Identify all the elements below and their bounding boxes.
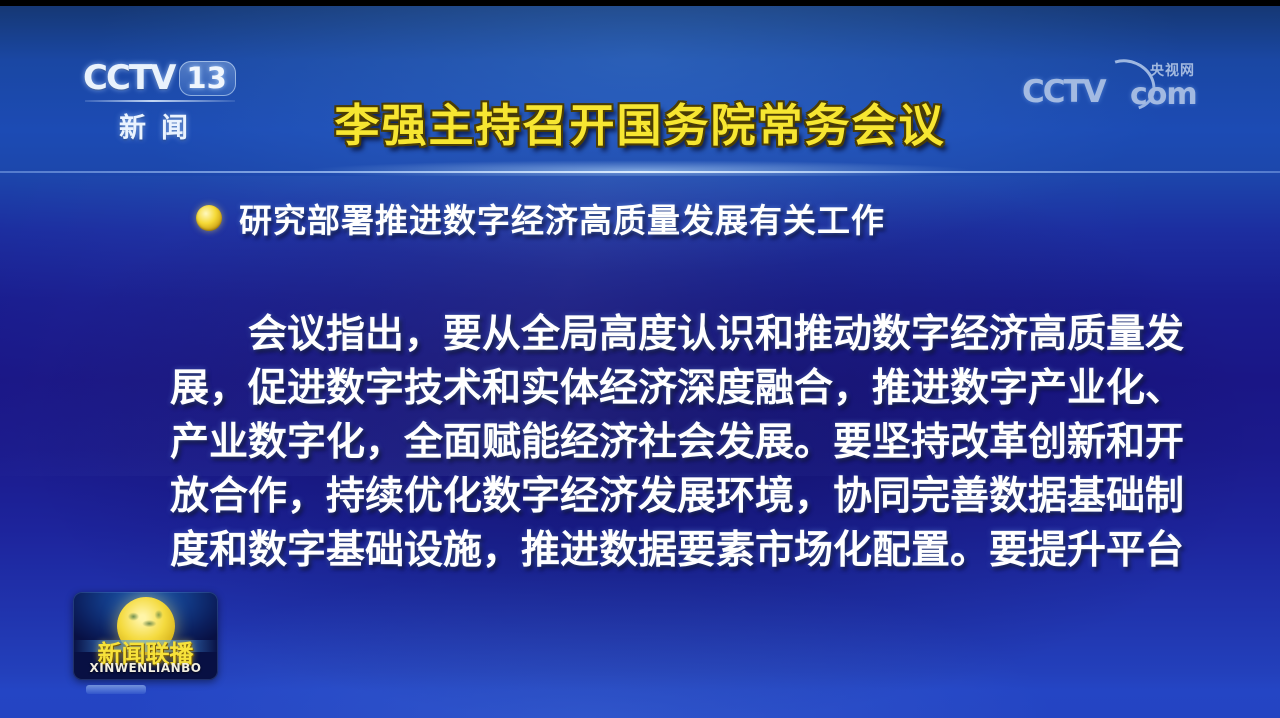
body-line: 展，促进数字技术和实体经济深度融合，推进数字产业化、: [170, 362, 1114, 416]
news-broadcast-screen: CCTV 13 新闻 CCTV 央视网 com 李强主持召开国务院常务会议 研究…: [0, 0, 1280, 718]
subtitle-row: 研究部署推进数字经济高质量发展有关工作: [196, 196, 885, 240]
letterbox-bar-top: [0, 0, 1280, 6]
body-line: 放合作，持续优化数字经济发展环境，协同完善数据基础制: [170, 470, 1114, 524]
headline-title: 李强主持召开国务院常务会议: [0, 98, 1280, 154]
body-paragraph: 会议指出，要从全局高度认识和推动数字经济高质量发 展，促进数字技术和实体经济深度…: [170, 308, 1114, 578]
channel-logo-row: CCTV 13: [83, 58, 253, 98]
program-bug-pinyin: XINWENLIANBO: [73, 661, 218, 675]
body-line: 会议指出，要从全局高度认识和推动数字经济高质量发: [170, 308, 1114, 362]
body-line: 产业数字化，全面赋能经济社会发展。要坚持改革创新和开: [170, 416, 1114, 470]
body-line: 度和数字基础设施，推进数据要素市场化配置。要提升平台: [170, 524, 1114, 578]
program-bug-underbar: [86, 685, 146, 694]
subtitle-text: 研究部署推进数字经济高质量发展有关工作: [239, 194, 885, 242]
bullet-dot-icon: [196, 205, 222, 231]
channel-number-badge: 13: [179, 61, 235, 96]
title-band-divider: [0, 171, 1280, 173]
program-bug: 新闻联播 XINWENLIANBO: [73, 592, 218, 680]
globe-landmass: [127, 610, 163, 632]
cctv-wordmark: CCTV: [83, 60, 174, 96]
